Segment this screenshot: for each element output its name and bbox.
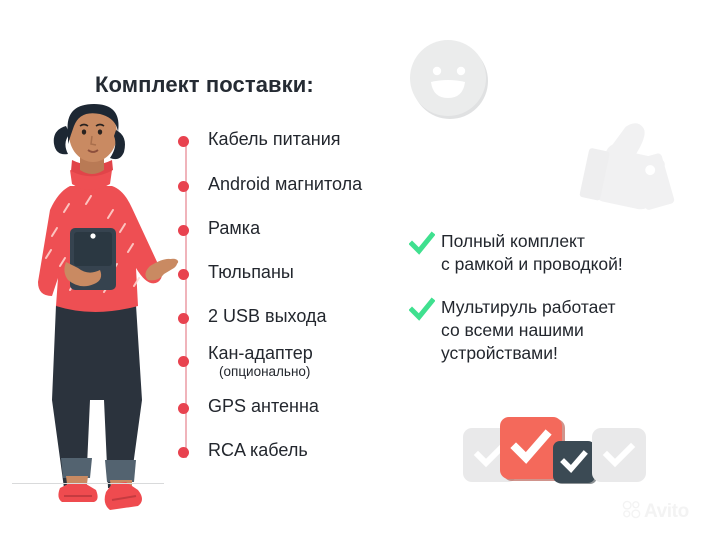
- list-item-label: 2 USB выхода: [208, 307, 326, 326]
- bullet-dot-icon: [178, 403, 189, 414]
- list-item: GPS антенна: [178, 397, 319, 416]
- feature-label: Полный комплект с рамкой и проводкой!: [441, 230, 623, 276]
- list-item: Рамка: [178, 219, 260, 238]
- list-item: 2 USB выхода: [178, 307, 326, 326]
- checkbox-card-grey-right: [592, 428, 646, 482]
- list-item: Тюльпаны: [178, 263, 294, 282]
- avito-wordmark: Avito: [644, 501, 689, 523]
- page-title: Комплект поставки:: [95, 72, 314, 98]
- bullet-dot-icon: [178, 136, 189, 147]
- checkbox-card-dark: [553, 441, 595, 483]
- bullet-dot-icon: [178, 356, 189, 367]
- list-item: Android магнитола: [178, 175, 362, 194]
- bullet-dot-icon: [178, 225, 189, 236]
- thumbs-up-icon: [578, 112, 678, 216]
- feature-item: Мультируль работает со всеми нашими устр…: [409, 296, 616, 365]
- bullet-dot-icon: [178, 313, 189, 324]
- list-item: Кан-адаптер (опционально): [178, 344, 313, 379]
- list-item: Кабель питания: [178, 130, 341, 149]
- list-item-label: Рамка: [208, 219, 260, 238]
- list-item-label: Кабель питания: [208, 130, 341, 149]
- green-check-icon: [409, 297, 435, 323]
- feature-label: Мультируль работает со всеми нашими устр…: [441, 296, 616, 365]
- list-item: RCA кабель: [178, 441, 308, 460]
- checkbox-cards-cluster: [459, 408, 639, 496]
- list-item-label: Кан-адаптер: [208, 343, 313, 363]
- list-item-label: GPS антенна: [208, 397, 319, 416]
- list-item-sublabel: (опционально): [219, 365, 313, 379]
- promo-banner: Комплект поставки: Кабель питания Androi…: [0, 0, 720, 540]
- feature-item: Полный комплект с рамкой и проводкой!: [409, 230, 623, 276]
- ground-line: [12, 483, 164, 484]
- list-item-label: Тюльпаны: [208, 263, 294, 282]
- bullet-dot-icon: [178, 269, 189, 280]
- list-item-label: RCA кабель: [208, 441, 308, 460]
- green-check-icon: [409, 231, 435, 257]
- bullet-dot-icon: [178, 447, 189, 458]
- bullet-dot-icon: [178, 181, 189, 192]
- avito-logo-icon: [622, 500, 641, 524]
- list-item-label: Android магнитола: [208, 175, 362, 194]
- woman-with-tablet-illustration: [8, 100, 188, 510]
- smiley-face-icon: [408, 38, 490, 120]
- list-item-label-group: Кан-адаптер (опционально): [208, 344, 313, 379]
- avito-watermark: Avito: [622, 500, 689, 524]
